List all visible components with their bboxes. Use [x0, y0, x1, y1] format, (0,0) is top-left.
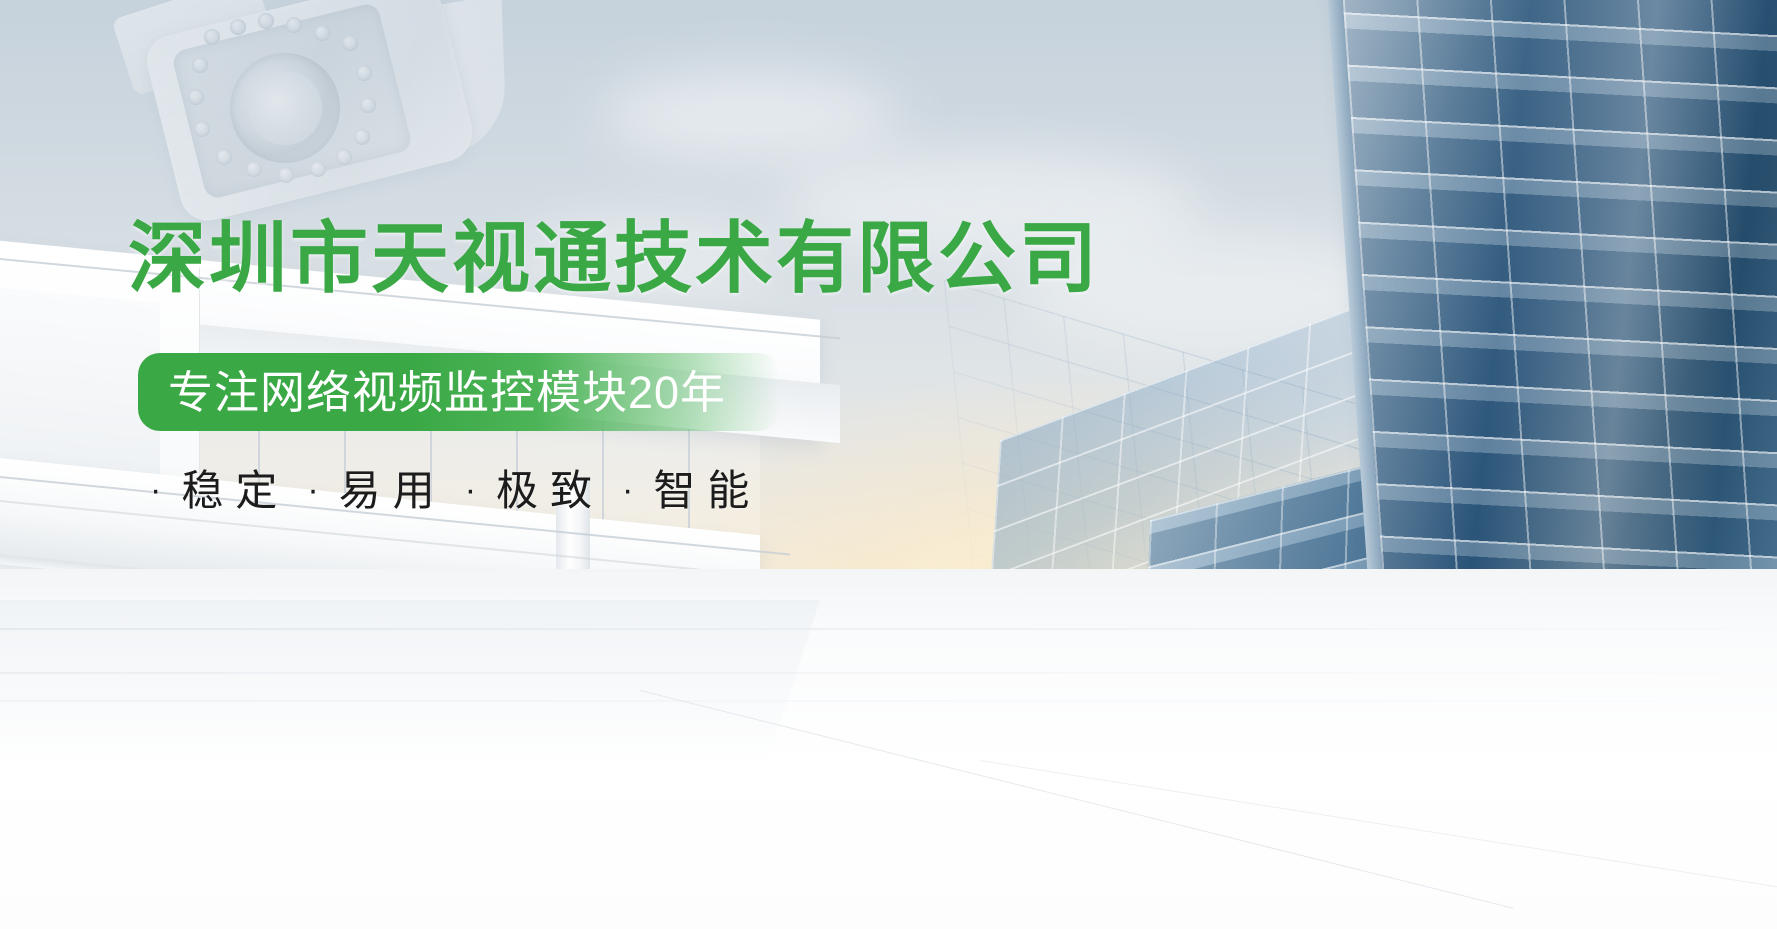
- ir-led-icon: [216, 149, 232, 165]
- ir-led-icon: [354, 129, 370, 145]
- slogan-pill: 专注网络视频监控模块20年: [138, 353, 780, 431]
- floor-reflection: [0, 600, 820, 770]
- ir-led-icon: [230, 19, 246, 35]
- page-title: 深圳市天视通技术有限公司: [128, 219, 1100, 297]
- ir-led-icon: [342, 35, 358, 51]
- ir-led-icon: [192, 57, 208, 73]
- ir-led-icon: [278, 167, 294, 183]
- tagline-word-2: 易用: [339, 467, 447, 514]
- ir-led-icon: [246, 161, 262, 177]
- tagline-separator: ·: [307, 471, 320, 509]
- cloud-icon: [600, 70, 900, 160]
- tagline-separator: ·: [622, 471, 635, 509]
- tagline-word-4: 智能: [653, 467, 761, 514]
- company-hero-banner: 深圳市天视通技术有限公司 专注网络视频监控模块20年 ·稳定·易用·极致·智能: [0, 0, 1777, 929]
- tagline: ·稳定·易用·极致·智能: [132, 470, 761, 512]
- cctv-camera-icon: [130, 0, 490, 210]
- tagline-separator: ·: [465, 471, 478, 509]
- ir-led-icon: [336, 149, 352, 165]
- ir-led-icon: [204, 29, 220, 45]
- ir-led-icon: [314, 25, 330, 41]
- slogan-pill-label: 专注网络视频监控模块20年: [168, 370, 726, 415]
- ir-led-icon: [188, 89, 204, 105]
- tagline-word-3: 极致: [496, 467, 604, 514]
- tagline-word-1: 稳定: [181, 467, 289, 514]
- ir-led-icon: [194, 121, 210, 137]
- ir-led-icon: [286, 17, 302, 33]
- ir-led-icon: [310, 161, 326, 177]
- ir-led-icon: [258, 13, 274, 29]
- ir-led-icon: [360, 97, 376, 113]
- tagline-separator: ·: [150, 471, 163, 509]
- ir-led-icon: [356, 65, 372, 81]
